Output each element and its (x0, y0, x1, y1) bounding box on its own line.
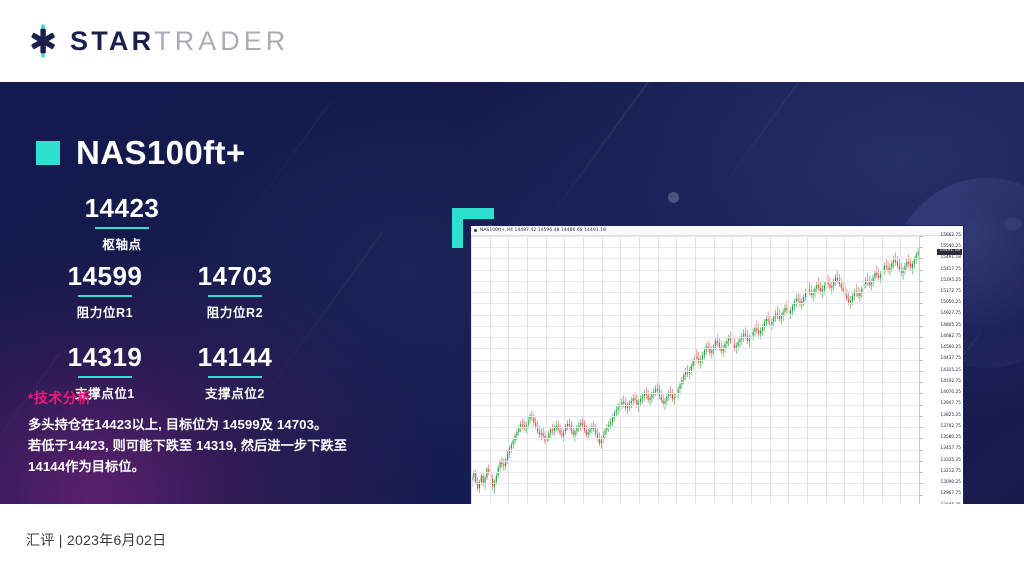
chart-y-tick-mark (920, 315, 923, 316)
chart-gridline-v (826, 236, 827, 504)
level-item: 14703 阻力位R2 (170, 262, 300, 321)
chart-y-tick-label: 14192.75 (940, 380, 961, 384)
chart-gridline-v (844, 236, 845, 504)
main-stage: NAS100ft+ 14423 枢轴点 14599 阻力位R1 14703 阻力… (0, 82, 1024, 504)
chart-gridline-v (751, 236, 752, 504)
chart-y-tick-label: 13825.25 (940, 414, 961, 418)
instrument-symbol: NAS100ft+ (76, 134, 246, 172)
star-asterisk-icon (26, 24, 60, 58)
chart-y-tick-label: 13090.25 (940, 481, 961, 485)
chart-y-tick-mark (920, 281, 923, 282)
chart-gridline-v (658, 236, 659, 504)
level-value: 14703 (170, 262, 300, 290)
analysis-line-1: 多头持仓在14423以上, 目标位为 14599及 14703。 (28, 415, 408, 436)
chart-y-tick-mark (920, 438, 923, 439)
chart-gridline-v (714, 236, 715, 504)
chart-gridline-v (900, 236, 901, 504)
chart-body: 30 Mar 202331 Mar 01:003 Apr 17:005 Apr … (471, 236, 963, 504)
pivot-value: 14423 (62, 194, 182, 222)
chart-y-tick-label: 15491.18 (940, 256, 961, 260)
chart-y-tick-mark (920, 303, 923, 304)
analysis-line-3: 14144作为目标位。 (28, 457, 408, 478)
chart-gridline-v (527, 236, 528, 504)
brand-logo[interactable]: STARTRADER (26, 24, 289, 58)
analysis-body: 多头持仓在14423以上, 目标位为 14599及 14703。 若低于1442… (28, 415, 408, 478)
chart-y-tick-label: 14805.25 (940, 324, 961, 328)
brand-wordmark: STARTRADER (70, 26, 289, 57)
chart-y-tick-label: 14315.25 (940, 369, 961, 373)
chart-gridline-v (807, 236, 808, 504)
chart-gridline-v (564, 236, 565, 504)
chart-y-tick-mark (920, 247, 923, 248)
chart-y-tick-mark (920, 405, 923, 406)
chart-y-tick-label: 15662.75 (940, 234, 961, 238)
footer-bar: 汇评 | 2023年6月02日 (0, 504, 1024, 576)
chart-y-tick-label: 14560.25 (940, 346, 961, 350)
streak-decoration (224, 102, 331, 248)
chart-y-tick-label: 14682.75 (940, 335, 961, 339)
chart-y-tick-label: 15417.75 (940, 268, 961, 272)
instrument-title: NAS100ft+ (36, 134, 246, 172)
chart-y-tick-mark (920, 326, 923, 327)
brand-name-light: TRADER (154, 26, 289, 57)
levels-grid: 14599 阻力位R1 14703 阻力位R2 14319 支撑点位1 1414… (40, 262, 300, 402)
footer-caption: 汇评 | 2023年6月02日 (26, 530, 166, 550)
chart-header: NAS100ft+,H4 14487.42 14596.48 14486.68 … (471, 226, 963, 236)
level-label: 阻力位R2 (170, 302, 300, 321)
level-value: 14319 (40, 343, 170, 371)
chart-gridline-v (770, 236, 771, 504)
chart-y-tick-mark (920, 393, 923, 394)
chart-y-tick-mark (920, 337, 923, 338)
level-value: 14144 (170, 343, 300, 371)
chart-y-tick-label: 15050.25 (940, 301, 961, 305)
chart-y-tick-label: 13580.25 (940, 436, 961, 440)
chart-bullet-icon (474, 229, 477, 232)
level-underline (208, 295, 262, 297)
chart-gridline-v (863, 236, 864, 504)
chart-gridline-v (639, 236, 640, 504)
chart-y-tick-mark (920, 292, 923, 293)
chart-gridline-v (602, 236, 603, 504)
analysis-line-2: 若低于14423, 则可能下跌至 14319, 然后进一步下跌至 (28, 436, 408, 457)
chart-gridline-v (788, 236, 789, 504)
level-value: 14599 (40, 262, 170, 290)
chart-current-price-badge: 14491.18 (937, 249, 962, 255)
chart-y-tick-mark (920, 461, 923, 462)
chart-y-axis[interactable]: 15662.7515540.2515491.1815417.7515295.25… (919, 236, 963, 504)
header-bar: STARTRADER (0, 0, 1024, 82)
chart-y-tick-mark (920, 382, 923, 383)
chart-y-tick-mark (920, 348, 923, 349)
chart-y-tick-mark (920, 483, 923, 484)
chart-y-tick-label: 13212.75 (940, 470, 961, 474)
chart-gridline-v (508, 236, 509, 504)
chart-gridline-v (882, 236, 883, 504)
chart-y-tick-label: 14927.75 (940, 312, 961, 316)
chart-gridline-v (620, 236, 621, 504)
chart-gridline-v (490, 236, 491, 504)
promo-poster: STARTRADER NAS100ft+ 14423 枢轴点 14599 (0, 0, 1024, 576)
level-underline (78, 295, 132, 297)
streak-decoration (541, 82, 677, 229)
level-item: 14599 阻力位R1 (40, 262, 170, 321)
chart-header-label: NAS100ft+,H4 14487.42 14596.48 14486.68 … (480, 228, 606, 233)
chart-y-tick-mark (920, 450, 923, 451)
chart-gridline-v (546, 236, 547, 504)
chart-y-tick-mark (920, 258, 923, 259)
pivot-level: 14423 枢轴点 (62, 194, 182, 253)
level-underline (78, 376, 132, 378)
pivot-label: 枢轴点 (62, 234, 182, 253)
chart-y-tick-label: 13335.25 (940, 459, 961, 463)
analysis-heading: *技术分析 (28, 388, 408, 408)
level-label: 阻力位R1 (40, 302, 170, 321)
chart-y-tick-mark (920, 495, 923, 496)
chart-y-tick-mark (920, 472, 923, 473)
chart-y-tick-mark (920, 360, 923, 361)
analysis-heading-text: 技术分析 (34, 390, 92, 406)
brand-name-bold: STAR (70, 26, 154, 57)
chart-gridline-v (732, 236, 733, 504)
chart-y-tick-label: 13702.75 (940, 425, 961, 429)
chart-y-tick-mark (920, 427, 923, 428)
pivot-underline (95, 227, 149, 229)
chart-y-tick-label: 13457.75 (940, 447, 961, 451)
chart-y-tick-label: 12967.75 (940, 492, 961, 496)
analysis-section: *技术分析 多头持仓在14423以上, 目标位为 14599及 14703。 若… (28, 388, 408, 478)
streak-decoration (708, 82, 821, 207)
trading-chart[interactable]: NAS100ft+,H4 14487.42 14596.48 14486.68 … (470, 225, 964, 504)
chart-y-tick-label: 14437.75 (940, 357, 961, 361)
chart-gridline-v (695, 236, 696, 504)
chart-gridline-v (676, 236, 677, 504)
chart-y-tick-label: 15295.25 (940, 279, 961, 283)
level-underline (208, 376, 262, 378)
chart-y-tick-label: 14070.25 (940, 391, 961, 395)
chart-y-tick-label: 13947.75 (940, 402, 961, 406)
chart-y-tick-mark (920, 416, 923, 417)
chart-y-tick-mark (920, 236, 923, 237)
chart-plot-area[interactable]: 30 Mar 202331 Mar 01:003 Apr 17:005 Apr … (471, 236, 919, 504)
dot-decoration (668, 192, 679, 203)
accent-square-icon (36, 141, 60, 165)
chart-gridline-v (583, 236, 584, 504)
chart-y-tick-mark (920, 371, 923, 372)
chart-y-tick-mark (920, 270, 923, 271)
chart-y-tick-label: 15172.75 (940, 290, 961, 294)
chart-gridline-v (471, 236, 472, 504)
